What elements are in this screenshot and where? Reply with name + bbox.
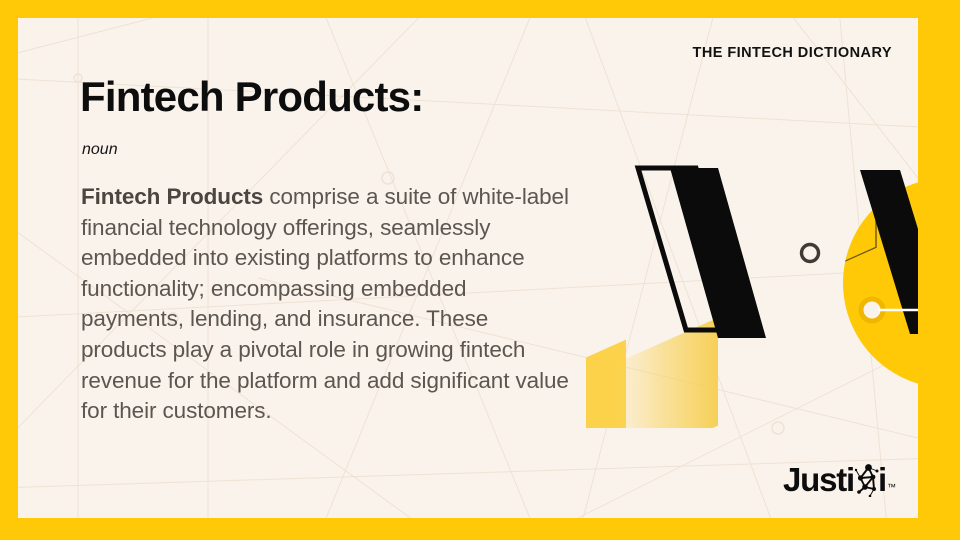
yellow-panel-left [586,340,626,428]
justifi-f-mark [853,463,879,497]
definition-lead-term: Fintech Products [81,184,263,209]
yellow-gradient-panel [618,318,718,428]
solid-black-panel [670,168,766,338]
logo-trademark: ™ [887,482,896,492]
outlined-panels-right [828,138,918,269]
yellow-ring-node [861,299,883,321]
logo-text-before: Justi [783,463,854,496]
eyebrow-label: THE FINTECH DICTIONARY [693,45,892,61]
yellow-circle [843,178,918,388]
definition-body: comprise a suite of white-label financia… [81,184,569,423]
logo-text-after: i [878,463,886,496]
part-of-speech-label: noun [82,141,118,159]
outlined-black-panel [638,168,744,330]
slide-root: THE FINTECH DICTIONARY Fintech Products:… [0,0,960,540]
solid-black-panel-right [860,170,918,334]
gray-ring-node [802,245,819,262]
page-title: Fintech Products: [80,74,423,119]
slide-canvas: THE FINTECH DICTIONARY Fintech Products:… [18,18,918,518]
justifi-logo[interactable]: Justi [783,456,896,496]
definition-text: Fintech Products comprise a suite of whi… [81,182,571,427]
illustration-graphic [578,138,918,428]
